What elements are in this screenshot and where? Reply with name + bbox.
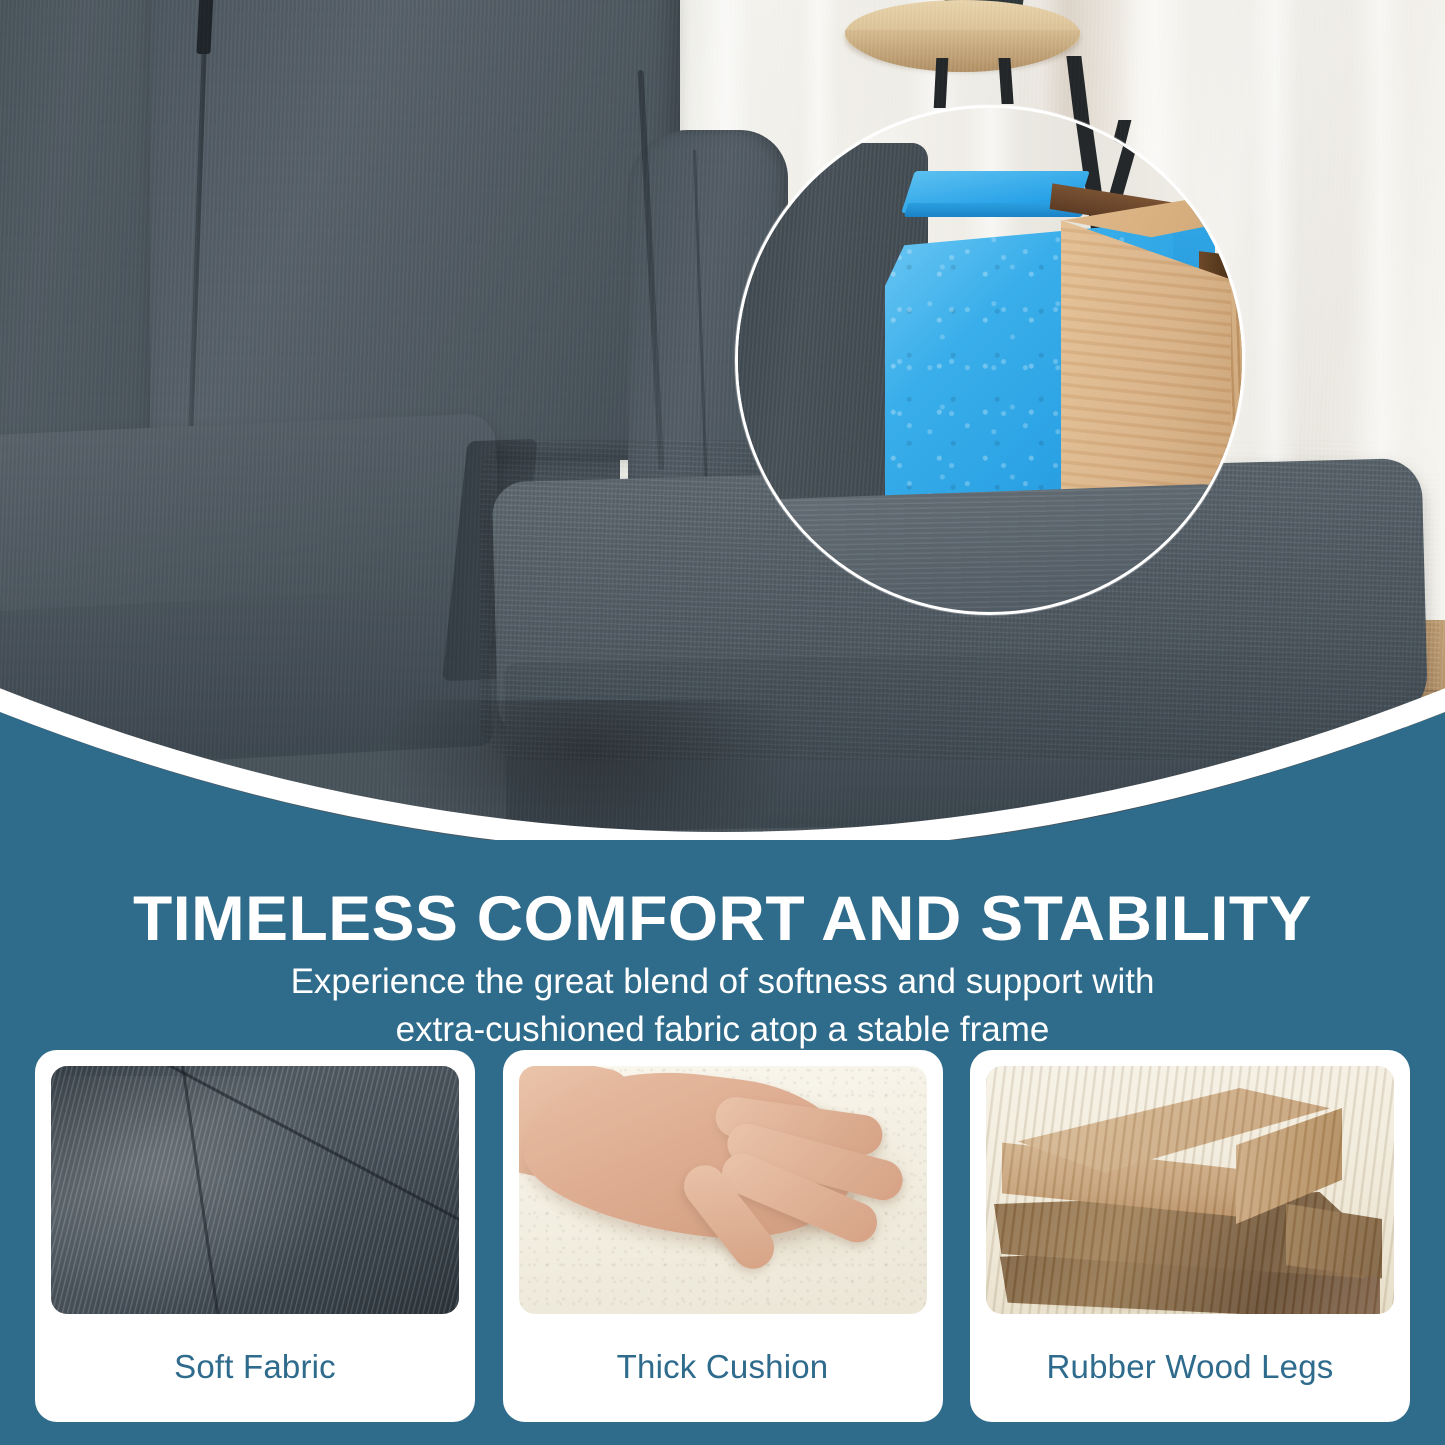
- sofa-back-cushion-center: [150, 0, 680, 460]
- construction-cutaway-circle: [735, 105, 1245, 615]
- hero-photo-section: [0, 0, 1445, 880]
- feature-card-label: Rubber Wood Legs: [1047, 1348, 1334, 1386]
- page-subtitle: Experience the great blend of softness a…: [0, 958, 1445, 1055]
- living-room-photo: [0, 0, 1445, 880]
- feature-card-rubber-wood-legs[interactable]: Rubber Wood Legs: [970, 1050, 1410, 1422]
- thick-cushion-image: [519, 1066, 927, 1314]
- feature-card-row: Soft Fabric Thick Cushion: [35, 1050, 1410, 1222]
- subtitle-line-2: extra-cushioned fabric atop a stable fra…: [0, 1006, 1445, 1054]
- callout-inner-scene: [735, 105, 1245, 615]
- subtitle-line-1: Experience the great blend of softness a…: [0, 958, 1445, 1006]
- feature-card-thick-cushion[interactable]: Thick Cushion: [503, 1050, 943, 1422]
- soft-fabric-image: [51, 1066, 459, 1314]
- feature-card-label: Soft Fabric: [174, 1348, 336, 1386]
- fabric-highlight: [51, 1076, 361, 1314]
- feature-banner-section: TIMELESS COMFORT AND STABILITY Experienc…: [0, 840, 1445, 1445]
- page-headline: TIMELESS COMFORT AND STABILITY: [0, 888, 1445, 951]
- feature-card-soft-fabric[interactable]: Soft Fabric: [35, 1050, 475, 1422]
- feature-card-label: Thick Cushion: [617, 1348, 829, 1386]
- rubber-wood-legs-image: [986, 1066, 1394, 1314]
- callout-seat-texture: [735, 482, 1245, 615]
